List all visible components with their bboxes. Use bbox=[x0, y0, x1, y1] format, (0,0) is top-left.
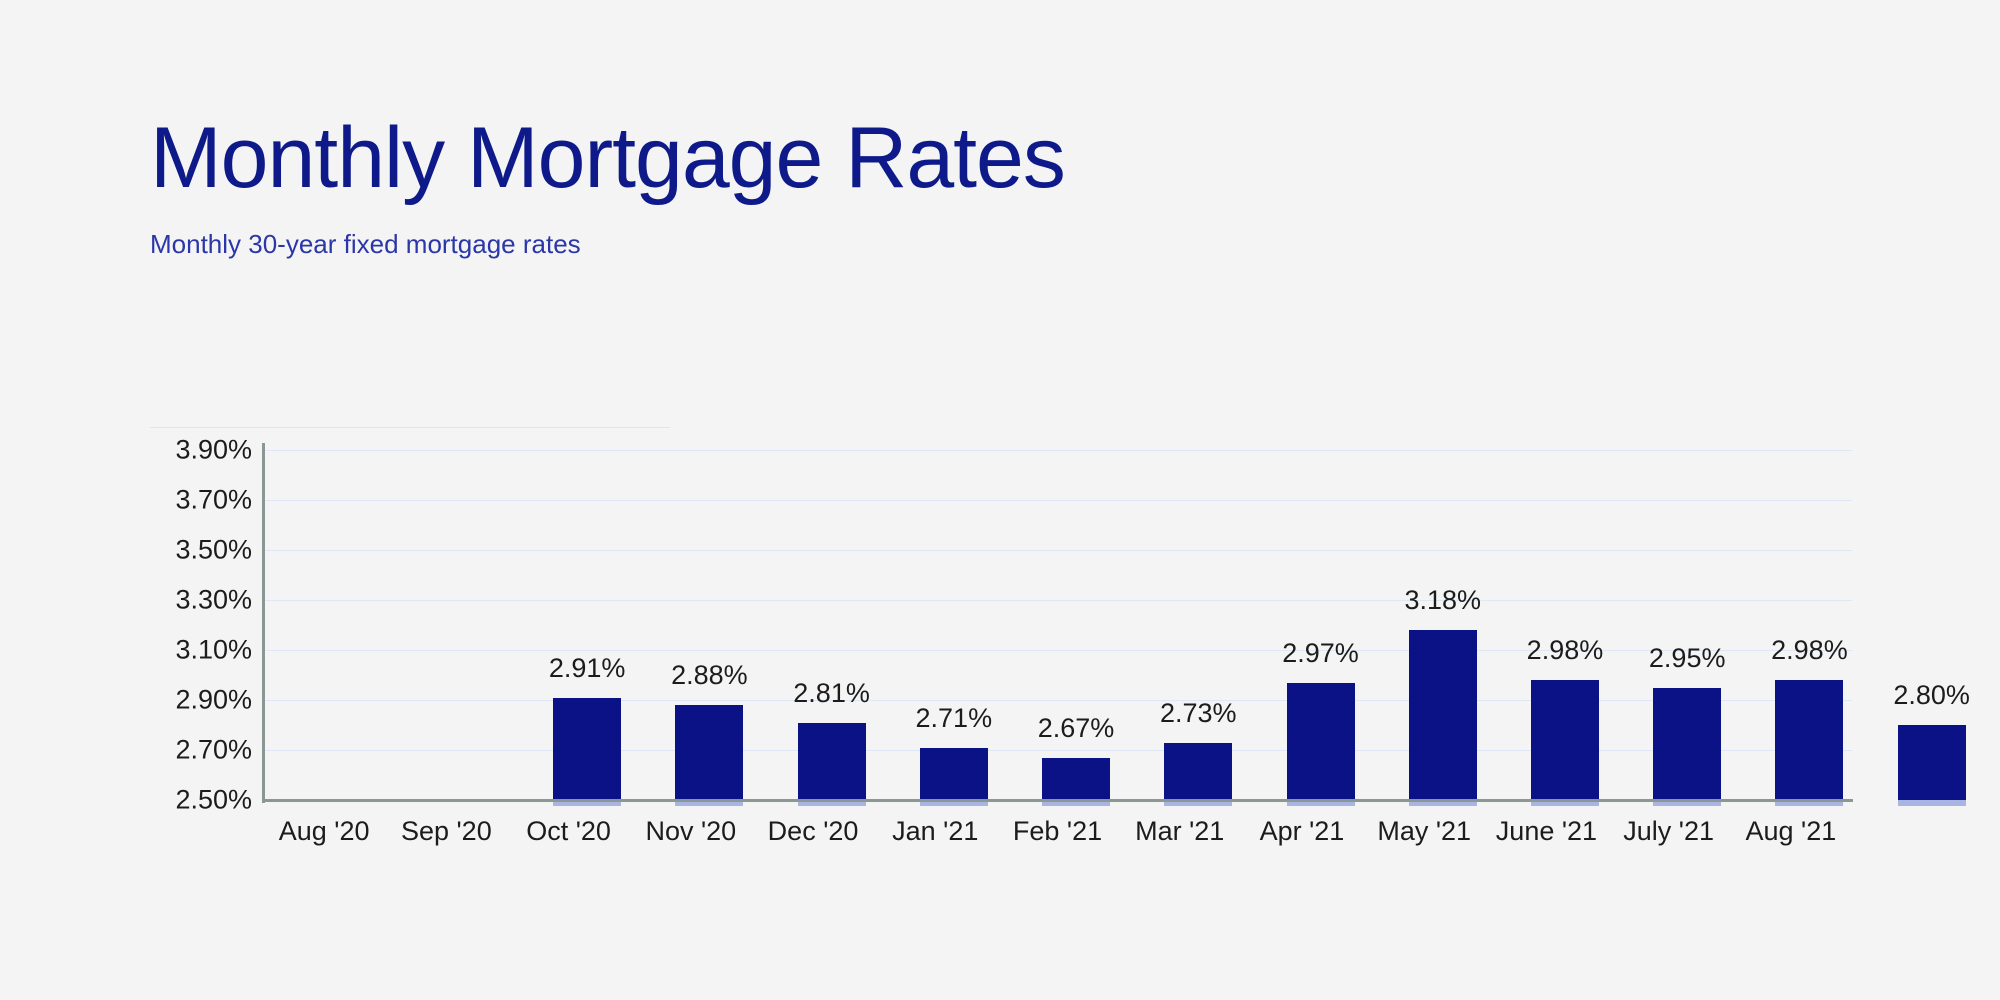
x-axis-tick-label: Aug '20 bbox=[279, 816, 370, 847]
bar-value-label: 2.98% bbox=[1771, 635, 1848, 666]
bar-chart: 2.91%2.88%2.81%2.71%2.67%2.73%2.97%3.18%… bbox=[0, 0, 2000, 1000]
bar-value-label: 2.81% bbox=[793, 678, 870, 709]
bar-group[interactable]: 2.80% bbox=[1898, 450, 1966, 800]
bar-group[interactable]: 2.97% bbox=[1287, 450, 1355, 800]
bar-group[interactable]: 2.81% bbox=[798, 450, 866, 800]
bar-value-label: 2.88% bbox=[671, 660, 748, 691]
bar[interactable] bbox=[1287, 683, 1355, 801]
x-axis-tick-label: Dec '20 bbox=[768, 816, 859, 847]
x-axis-tick-label: Oct '20 bbox=[526, 816, 611, 847]
bar-group[interactable]: 2.98% bbox=[1775, 450, 1843, 800]
x-axis-line bbox=[263, 799, 1853, 802]
top-hairline bbox=[150, 427, 670, 428]
x-axis-tick-label: Feb '21 bbox=[1013, 816, 1102, 847]
x-axis-tick-label: Sep '20 bbox=[401, 816, 492, 847]
x-axis-tick-label: June '21 bbox=[1496, 816, 1597, 847]
x-axis-tick-label: Jan '21 bbox=[892, 816, 978, 847]
bar[interactable] bbox=[1775, 680, 1843, 800]
y-axis-line bbox=[262, 443, 265, 803]
bar-value-label: 2.80% bbox=[1893, 680, 1970, 711]
bar-group[interactable]: 2.88% bbox=[675, 450, 743, 800]
bar[interactable] bbox=[553, 698, 621, 801]
bar-value-label: 2.71% bbox=[916, 703, 993, 734]
x-axis-tick-label: July '21 bbox=[1623, 816, 1714, 847]
y-axis-tick-label: 2.90% bbox=[152, 685, 252, 716]
y-axis-labels: 3.90%3.70%3.50%3.30%3.10%2.90%2.70%2.50% bbox=[152, 450, 252, 800]
y-axis-tick-label: 3.70% bbox=[152, 485, 252, 516]
bar[interactable] bbox=[920, 748, 988, 801]
bar-value-label: 2.97% bbox=[1282, 638, 1359, 669]
bar-shadow bbox=[1898, 800, 1966, 806]
bar-group[interactable]: 2.98% bbox=[1531, 450, 1599, 800]
bar-group[interactable]: 2.71% bbox=[920, 450, 988, 800]
y-axis-tick-label: 2.70% bbox=[152, 735, 252, 766]
y-axis-tick-label: 3.90% bbox=[152, 435, 252, 466]
bar-value-label: 3.18% bbox=[1404, 585, 1481, 616]
bar-value-label: 2.91% bbox=[549, 653, 626, 684]
plot-area: 2.91%2.88%2.81%2.71%2.67%2.73%2.97%3.18%… bbox=[263, 450, 1852, 800]
bar[interactable] bbox=[1409, 630, 1477, 800]
y-axis-tick-label: 3.30% bbox=[152, 585, 252, 616]
bar-group[interactable]: 3.18% bbox=[1409, 450, 1477, 800]
y-axis-tick-label: 2.50% bbox=[152, 785, 252, 816]
y-axis-tick-label: 3.10% bbox=[152, 635, 252, 666]
bar-value-label: 2.67% bbox=[1038, 713, 1115, 744]
y-axis-tick-label: 3.50% bbox=[152, 535, 252, 566]
bar[interactable] bbox=[798, 723, 866, 801]
bar-value-label: 2.73% bbox=[1160, 698, 1237, 729]
bar[interactable] bbox=[675, 705, 743, 800]
bar-group[interactable]: 2.67% bbox=[1042, 450, 1110, 800]
bar-value-label: 2.98% bbox=[1527, 635, 1604, 666]
bar-group[interactable]: 2.91% bbox=[553, 450, 621, 800]
x-axis-tick-label: Mar '21 bbox=[1135, 816, 1224, 847]
x-axis-tick-label: Aug '21 bbox=[1746, 816, 1837, 847]
bar[interactable] bbox=[1653, 688, 1721, 801]
bar[interactable] bbox=[1531, 680, 1599, 800]
x-axis-tick-label: Apr '21 bbox=[1260, 816, 1345, 847]
x-axis-tick-label: May '21 bbox=[1377, 816, 1471, 847]
x-axis-tick-label: Nov '20 bbox=[645, 816, 736, 847]
bar[interactable] bbox=[1042, 758, 1110, 801]
bar-group[interactable]: 2.95% bbox=[1653, 450, 1721, 800]
bar-value-label: 2.95% bbox=[1649, 643, 1726, 674]
bar[interactable] bbox=[1164, 743, 1232, 801]
bar-group[interactable]: 2.73% bbox=[1164, 450, 1232, 800]
bar[interactable] bbox=[1898, 725, 1966, 800]
